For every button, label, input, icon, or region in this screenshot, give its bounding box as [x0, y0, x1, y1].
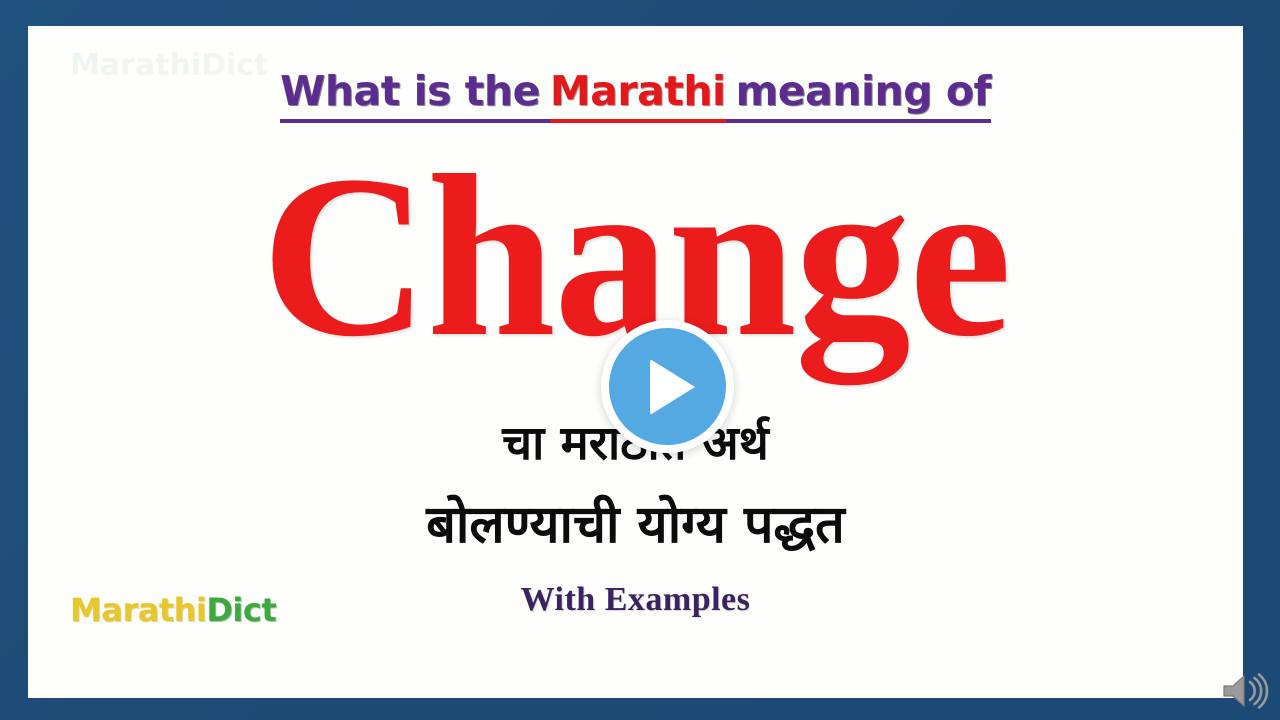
- play-button[interactable]: [601, 320, 734, 453]
- speaker-volume-icon[interactable]: [1213, 666, 1275, 716]
- logo-part-marathi: Marathi: [70, 591, 206, 629]
- title-segment-marathi: Marathi: [550, 68, 726, 123]
- title-spacer-2: [726, 82, 736, 123]
- slide-canvas: MarathiDict What is theMarathimeaning of…: [28, 26, 1243, 698]
- page-title: What is theMarathimeaning of: [28, 68, 1243, 123]
- play-triangle-icon: [650, 359, 695, 415]
- brand-logo: MarathiDict: [70, 591, 276, 629]
- title-segment-meaning-of: meaning of: [736, 68, 991, 123]
- logo-part-dict: Dict: [206, 591, 276, 629]
- title-spacer-1: [540, 82, 550, 123]
- play-button-disc: [609, 328, 726, 445]
- title-segment-what-is-the: What is the: [280, 68, 540, 123]
- meaning-line-2: बोलण्याची योग्य पद्धत: [28, 496, 1243, 554]
- video-slide-stage: MarathiDict What is theMarathimeaning of…: [0, 0, 1280, 720]
